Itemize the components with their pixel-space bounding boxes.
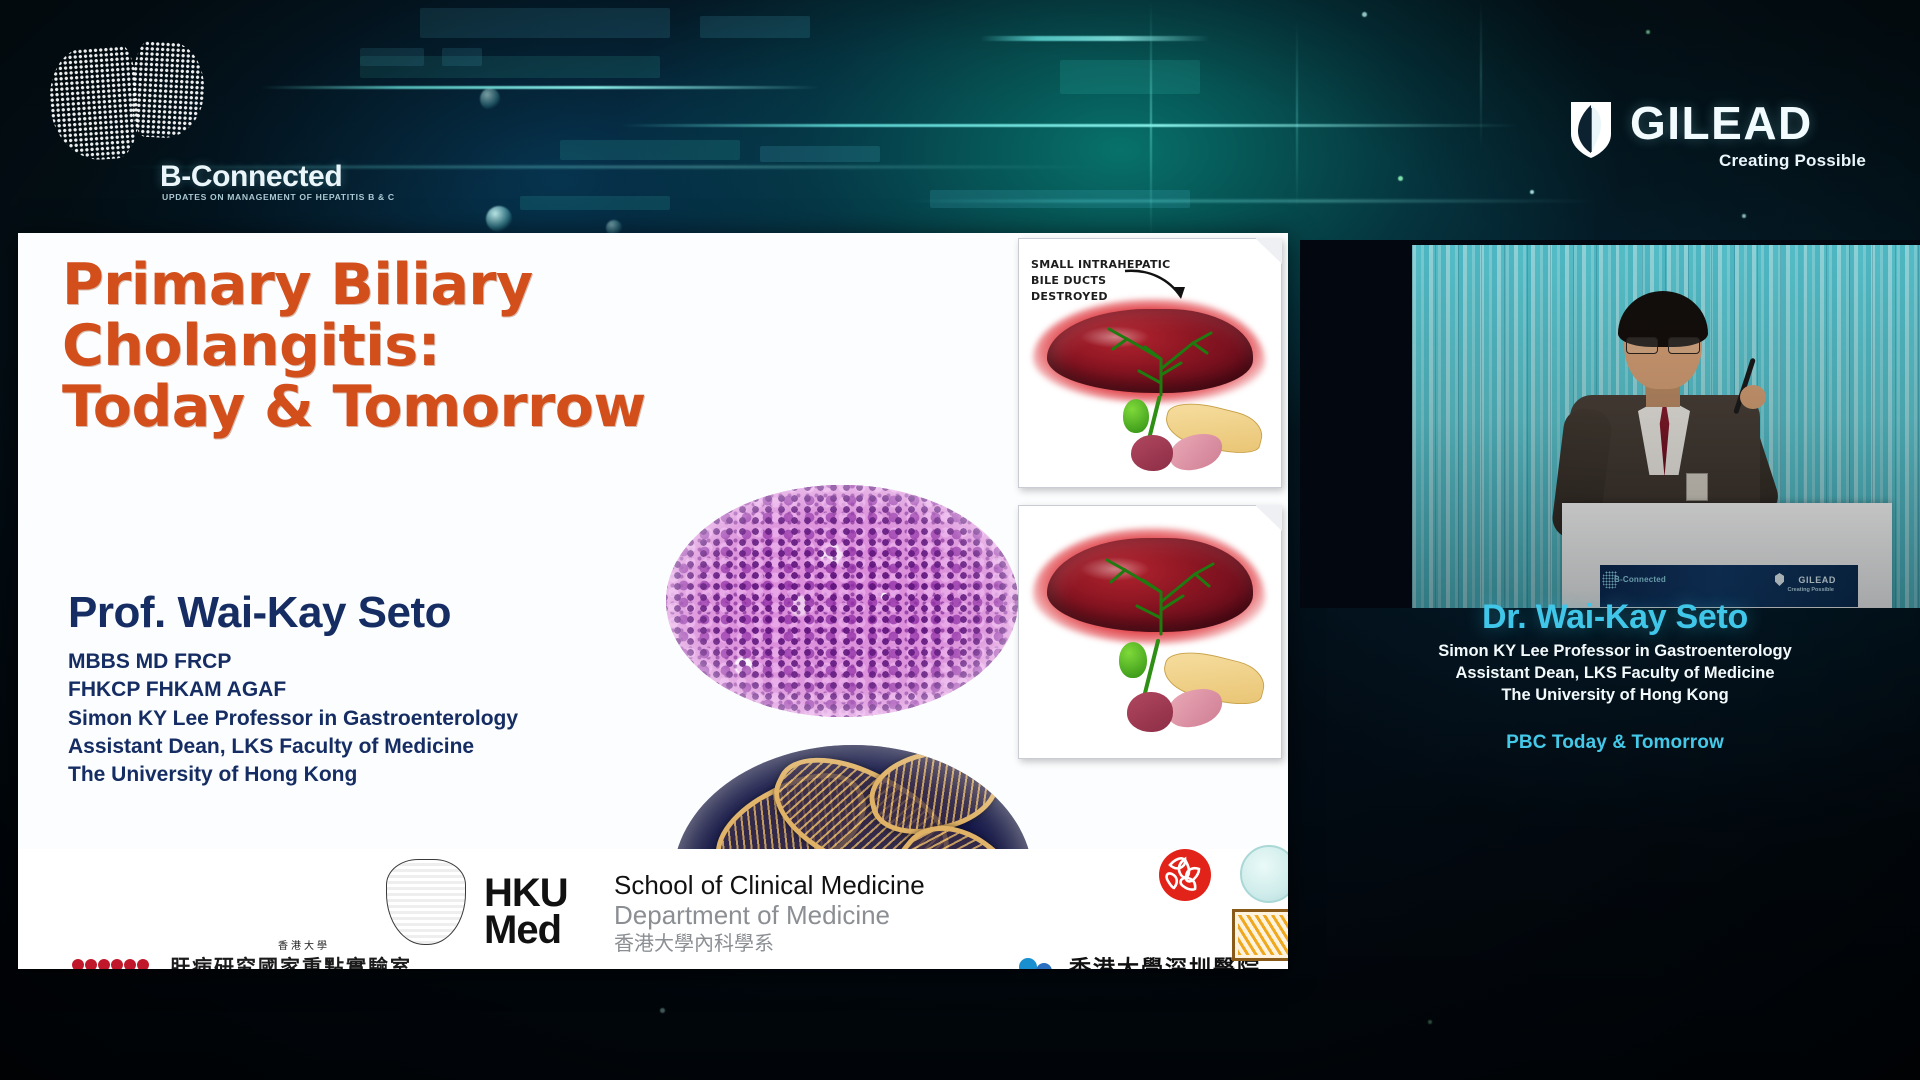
liver-organ bbox=[1033, 528, 1265, 644]
gilead-shield-leaf-icon bbox=[1568, 98, 1614, 160]
apasl-emblem-icon bbox=[1232, 909, 1288, 961]
gilead-logo: GILEAD Creating Possible bbox=[1568, 98, 1868, 190]
slide-content: Primary Biliary Cholangitis: Today & Tom… bbox=[18, 233, 1288, 969]
hku-med-line-3: 香港大學內科學系 bbox=[614, 931, 925, 955]
caption-speaker-name: Dr. Wai-Kay Seto bbox=[1300, 598, 1920, 637]
caption-talk-title: PBC Today & Tomorrow bbox=[1300, 732, 1920, 754]
liver-organ bbox=[1033, 299, 1265, 403]
slide-title: Primary Biliary Cholangitis: Today & Tom… bbox=[62, 255, 702, 438]
panel-folded-corner bbox=[1255, 238, 1282, 264]
bile-duct-tree-icon bbox=[1069, 556, 1249, 636]
histology-vignette bbox=[666, 485, 1018, 717]
caption-credential-line: Simon KY Lee Professor in Gastroenterolo… bbox=[1300, 641, 1920, 663]
caption-credential-line: The University of Hong Kong bbox=[1300, 685, 1920, 707]
video-stage: B-Connected GILEAD Creating Possible bbox=[1412, 245, 1920, 608]
gallbladder bbox=[1123, 399, 1149, 433]
hku-med-line-1: School of Clinical Medicine bbox=[614, 871, 925, 901]
b-connected-tagline: UPDATES ON MANAGEMENT OF HEPATITIS B & C bbox=[162, 192, 395, 202]
presenter-credential: FHKCP FHKAM AGAF bbox=[68, 676, 688, 704]
presenter-credential: The University of Hong Kong bbox=[68, 761, 688, 789]
gallbladder bbox=[1119, 642, 1147, 678]
presenter-credential: Simon KY Lee Professor in Gastroenterolo… bbox=[68, 705, 688, 733]
hku-med-logo: HKU Med School of Clinical Medicine Depa… bbox=[484, 875, 568, 949]
hku-med-mark-line-1: HKU bbox=[484, 875, 568, 912]
hku-university-crest-icon bbox=[386, 859, 466, 945]
liver-right-lobe-icon bbox=[130, 40, 207, 140]
slide-title-line-3: Today & Tomorrow bbox=[62, 377, 702, 438]
b-connected-logo: B-Connected UPDATES ON MANAGEMENT OF HEP… bbox=[38, 38, 308, 203]
live-video-panel[interactable]: B-Connected GILEAD Creating Possible bbox=[1300, 240, 1920, 608]
liver-biliary-diagram-bottom bbox=[1018, 505, 1282, 759]
shenzhen-hospital-mark-icon bbox=[1013, 955, 1059, 969]
slide-title-line-1: Primary Biliary bbox=[62, 255, 702, 316]
bile-duct-histology-image bbox=[666, 485, 1018, 717]
state-key-lab-chinese-sup: 香港大學 bbox=[278, 937, 330, 952]
hku-med-text: School of Clinical Medicine Department o… bbox=[614, 871, 925, 954]
liver-left-lobe-icon bbox=[46, 45, 142, 163]
spleen bbox=[1127, 692, 1173, 732]
speaker-caption: Dr. Wai-Kay Seto Simon KY Lee Professor … bbox=[1300, 598, 1920, 754]
hku-med-line-2: Department of Medicine bbox=[614, 901, 925, 931]
caption-credentials: Simon KY Lee Professor in Gastroenterolo… bbox=[1300, 641, 1920, 706]
slide-title-line-2: Cholangitis: bbox=[62, 316, 702, 377]
slide-logo-strip: 香港大學 肝病研究國家重點實驗室 State Key Laboratory of… bbox=[18, 849, 1288, 969]
slide-presenter-block: Prof. Wai-Kay Seto MBBS MD FRCP FHKCP FH… bbox=[68, 588, 688, 790]
gilead-tagline: Creating Possible bbox=[1719, 151, 1866, 171]
apasl-emblem-pattern bbox=[1238, 915, 1288, 955]
presenter-credential: Assistant Dean, LKS Faculty of Medicine bbox=[68, 733, 688, 761]
globe-emblem-icon bbox=[1240, 845, 1288, 903]
presentation-stage: B-Connected UPDATES ON MANAGEMENT OF HEP… bbox=[0, 0, 1920, 1080]
b-connected-name: B-Connected bbox=[160, 160, 342, 194]
liver-biliary-diagram-top: SMALL INTRAHEPATIC BILE DUCTS DESTROYED bbox=[1018, 238, 1282, 488]
presenter-credential: MBBS MD FRCP bbox=[68, 648, 688, 676]
liver-dotted-logo-icon bbox=[48, 38, 208, 163]
bile-duct-tree-icon bbox=[1069, 325, 1249, 397]
caption-credential-line: Assistant Dean, LKS Faculty of Medicine bbox=[1300, 663, 1920, 685]
liver-dots-triangle-icon bbox=[70, 955, 162, 969]
spleen bbox=[1131, 435, 1173, 471]
gilead-wordmark: GILEAD bbox=[1630, 96, 1813, 150]
bauhinia-emblem-icon bbox=[1159, 849, 1211, 901]
hku-med-mark-line-2: Med bbox=[484, 912, 568, 949]
video-shading bbox=[1412, 245, 1920, 608]
presenter-name: Prof. Wai-Kay Seto bbox=[68, 588, 688, 638]
state-key-lab-chinese: 肝病研究國家重點實驗室 bbox=[170, 951, 412, 969]
